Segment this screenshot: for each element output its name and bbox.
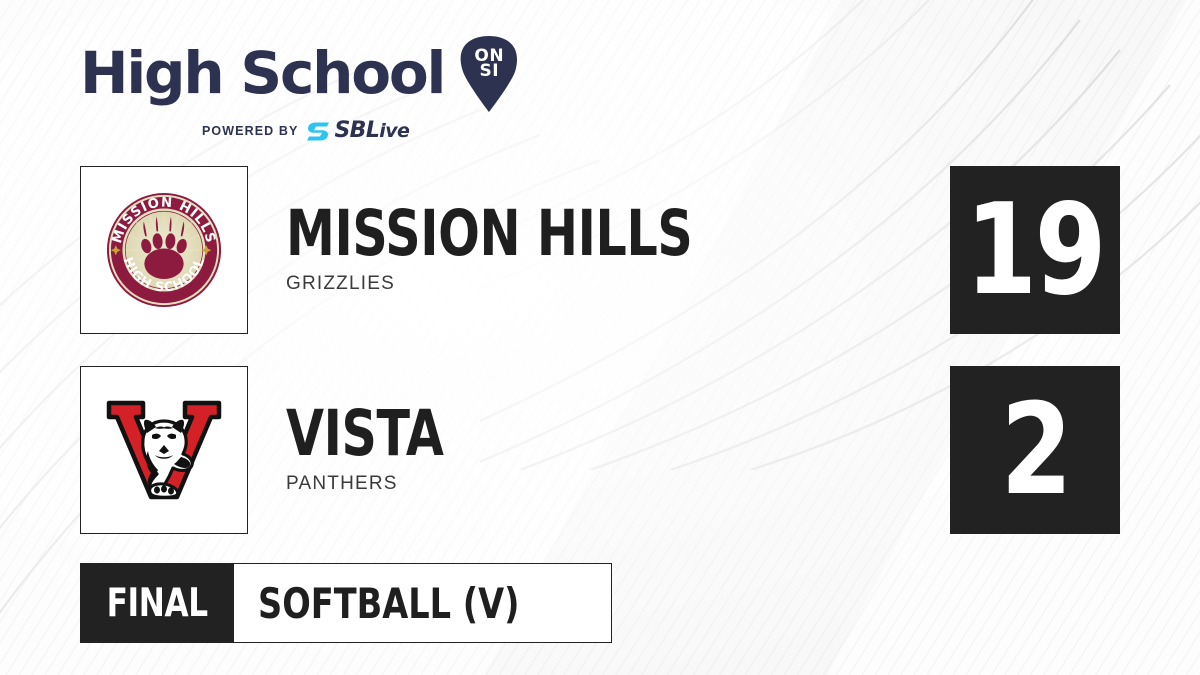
powered-by-label: POWERED BY [202, 124, 298, 138]
sblive-lockup: SBLive [307, 120, 409, 142]
powered-by-row: POWERED BY SBLive [80, 120, 520, 142]
mission-hills-grizzlies-crest-icon: MISSION HILLS HIGH SCHOOL [105, 191, 223, 309]
team-name: VISTA [286, 405, 443, 463]
pin-line-si: SI [458, 64, 520, 79]
team-score: 2 [1000, 387, 1069, 513]
team-logo-box: MISSION HILLS HIGH SCHOOL [80, 166, 248, 334]
brand-header: High School ON SI POWERED BY SBL [80, 36, 520, 142]
sblive-wordmark: SBLive [334, 120, 409, 142]
scoreboard-graphic: High School ON SI POWERED BY SBL [0, 0, 1200, 675]
game-state-badge: FINAL [80, 563, 234, 643]
brand-lockup: High School ON SI [80, 36, 520, 112]
vista-panthers-v-logo-icon [103, 391, 225, 509]
sblive-word-lower: ive [379, 120, 409, 142]
team-text-block: MISSION HILLS GRIZZLIES [286, 166, 807, 334]
team-mascot: GRIZZLIES [286, 273, 807, 295]
team-mascot: PANTHERS [286, 473, 488, 495]
brand-wordmark: High School [80, 46, 444, 102]
team-name: MISSION HILLS [286, 205, 692, 263]
game-state-label: FINAL [107, 581, 208, 626]
location-pin-label: ON SI [458, 49, 520, 79]
team-score: 19 [966, 187, 1105, 313]
team-row: VISTA PANTHERS 2 [80, 366, 1120, 534]
team-text-block: VISTA PANTHERS [286, 366, 488, 534]
sport-label: SOFTBALL (V) [258, 579, 519, 628]
team-score-box: 19 [950, 166, 1120, 334]
sblive-s-mark-icon [307, 121, 331, 142]
team-logo-box [80, 366, 248, 534]
sport-badge: SOFTBALL (V) [234, 563, 612, 643]
team-score-box: 2 [950, 366, 1120, 534]
game-status-bar: FINAL SOFTBALL (V) [80, 563, 612, 643]
location-pin-icon: ON SI [458, 36, 520, 112]
team-row: MISSION HILLS HIGH SCHOOL MISSION HILLS … [80, 166, 1120, 334]
sblive-word-upper: SBL [334, 118, 379, 143]
